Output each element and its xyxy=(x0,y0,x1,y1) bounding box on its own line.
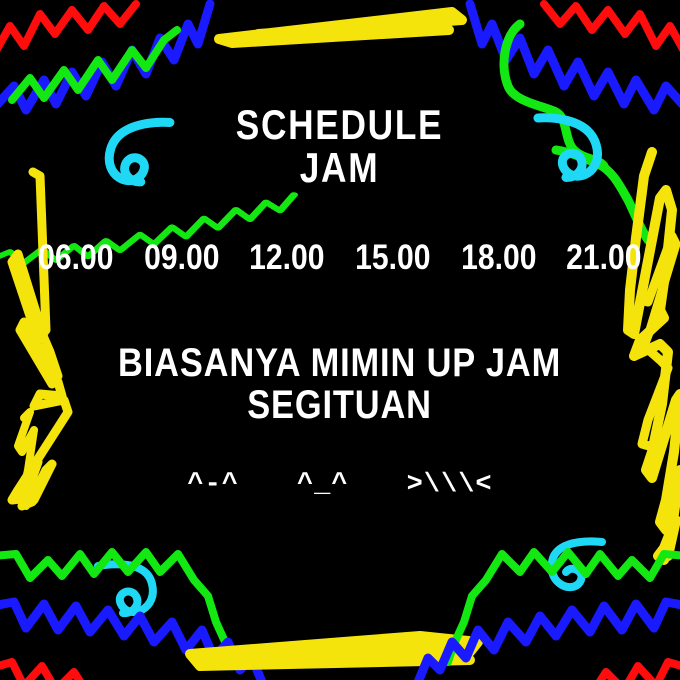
time-slot-4: 15.00 xyxy=(355,238,430,278)
schedule-times-row: 06.00 09.00 12.00 15.00 18.00 21.00 xyxy=(32,238,648,278)
schedule-poster: SCHEDULE JAM 06.00 09.00 12.00 15.00 18.… xyxy=(0,0,680,680)
emoticons-row: ^-^ ^_^ >\\\< xyxy=(187,470,492,500)
title-line-schedule: SCHEDULE xyxy=(236,104,444,147)
time-slot-2: 09.00 xyxy=(144,238,219,278)
time-slot-5: 18.00 xyxy=(461,238,536,278)
kaomoji-happy-dash: ^-^ xyxy=(187,470,239,500)
kaomoji-blush: >\\\< xyxy=(407,470,493,500)
time-slot-6: 21.00 xyxy=(566,238,641,278)
poster-title: SCHEDULE JAM xyxy=(216,104,463,190)
time-slot-1: 06.00 xyxy=(38,238,113,278)
time-slot-3: 12.00 xyxy=(250,238,325,278)
message-line-2: SEGITUAN xyxy=(118,384,561,426)
title-line-jam: JAM xyxy=(236,147,444,190)
poster-message: BIASANYA MIMIN UP JAM SEGITUAN xyxy=(82,342,597,426)
message-line-1: BIASANYA MIMIN UP JAM xyxy=(118,342,561,384)
kaomoji-happy-underscore: ^_^ xyxy=(297,470,349,500)
poster-content: SCHEDULE JAM 06.00 09.00 12.00 15.00 18.… xyxy=(0,0,680,680)
